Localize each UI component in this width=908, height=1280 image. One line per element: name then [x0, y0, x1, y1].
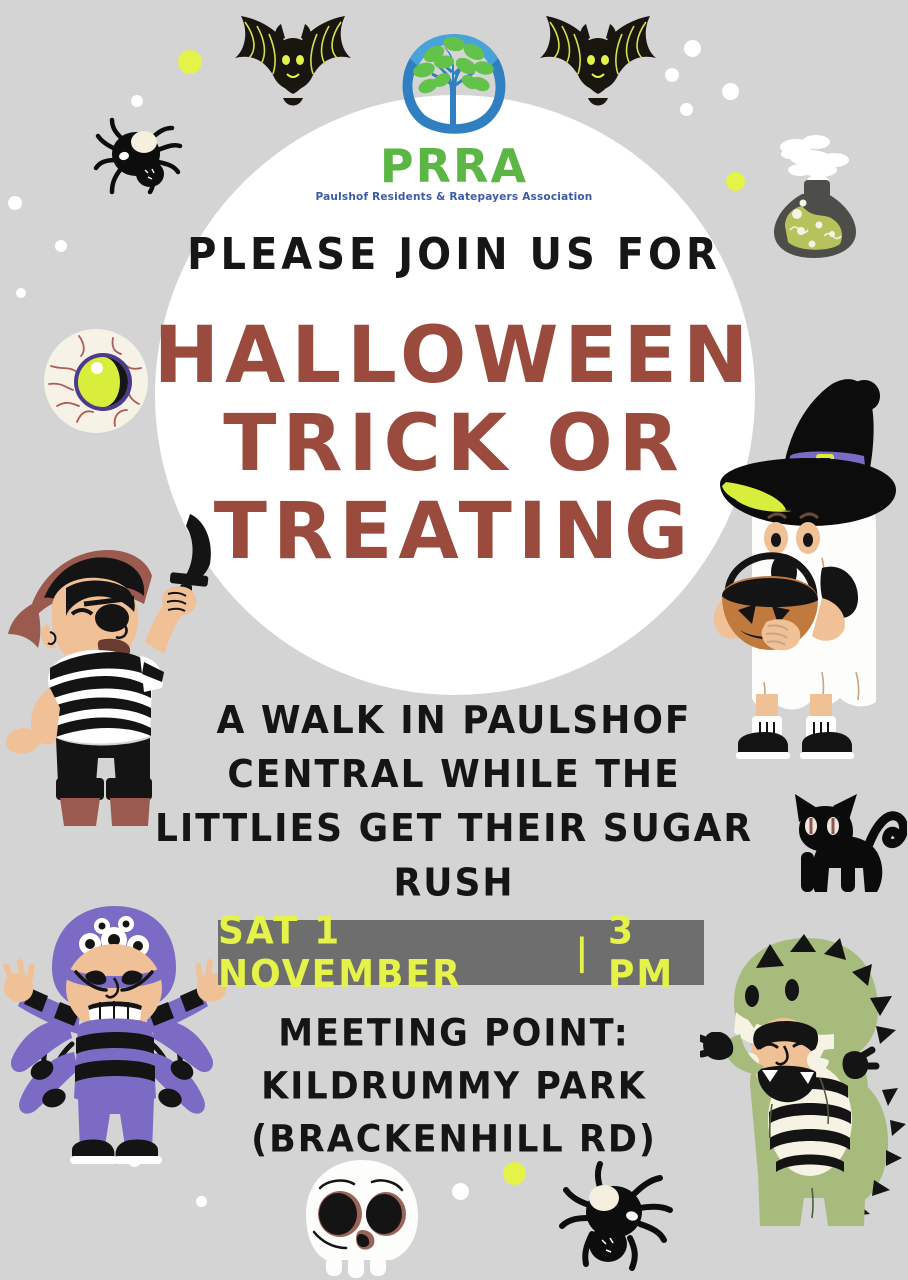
event-date: SAT 1 NOVEMBER [218, 909, 558, 996]
description-line-4: RUSH [0, 856, 908, 910]
description-line-2: CENTRAL WHILE THE [0, 748, 908, 802]
event-time: 3 PM [608, 909, 704, 996]
venue-line-3: (BRACKENHILL RD) [0, 1114, 908, 1167]
date-time-banner: SAT 1 NOVEMBER | 3 PM [218, 920, 704, 985]
kicker-text: PLEASE JOIN US FOR [0, 230, 908, 280]
prra-logo-block: PRRA Paulshof Residents & Ratepayers Ass… [0, 22, 908, 203]
venue-text: MEETING POINT: KILDRUMMY PARK (BRACKENHI… [0, 1008, 908, 1167]
description-line-1: A WALK IN PAULSHOF [0, 694, 908, 748]
description-line-3: LITTLIES GET THEIR SUGAR [0, 802, 908, 856]
tree-in-circle-logo-icon [392, 22, 516, 146]
title-line-2: TRICK OR [0, 400, 908, 488]
page-title: HALLOWEEN TRICK OR TREATING [0, 312, 908, 576]
banner-separator: | [576, 931, 590, 973]
description-text: A WALK IN PAULSHOF CENTRAL WHILE THE LIT… [0, 694, 908, 910]
title-line-1: HALLOWEEN [0, 312, 908, 400]
venue-line-2: KILDRUMMY PARK [0, 1061, 908, 1114]
venue-line-1: MEETING POINT: [0, 1008, 908, 1061]
logo-name: PRRA [0, 145, 908, 187]
halloween-poster: PRRA Paulshof Residents & Ratepayers Ass… [0, 0, 908, 1280]
title-line-3: TREATING [0, 488, 908, 576]
logo-subtitle: Paulshof Residents & Ratepayers Associat… [0, 191, 908, 203]
